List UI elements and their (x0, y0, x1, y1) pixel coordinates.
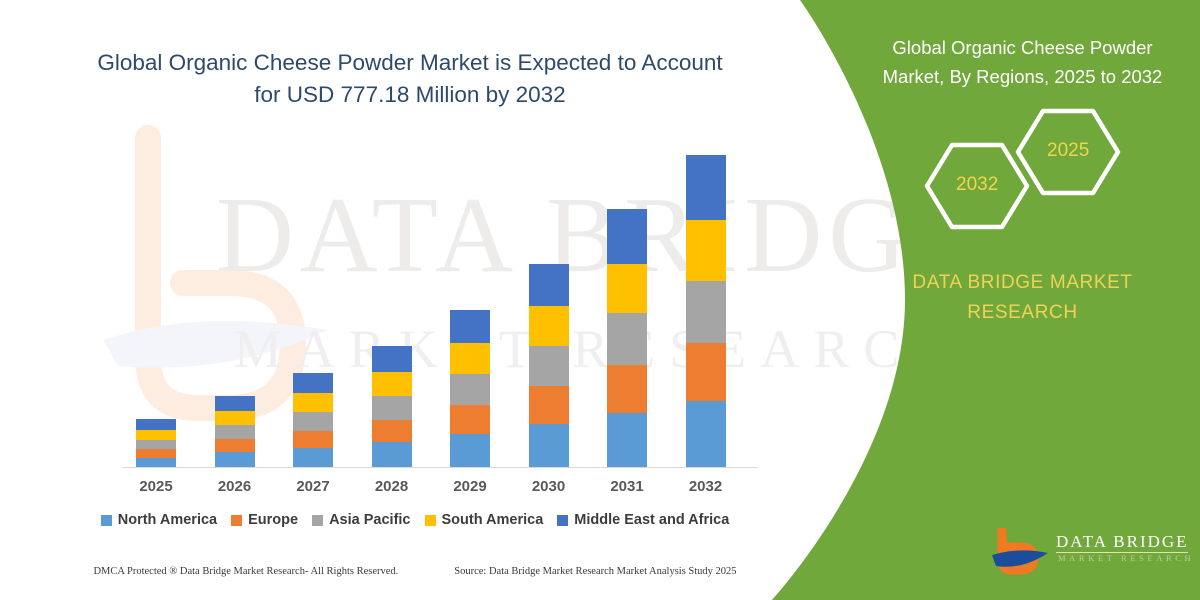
bar-segment-south-america-2025 (136, 430, 176, 440)
bar-segment-middle-east-and-africa-2030 (529, 264, 569, 307)
bar-segment-north-america-2028 (372, 442, 412, 467)
bar-segment-north-america-2026 (215, 452, 255, 467)
legend-item-south-america[interactable]: South America (425, 512, 544, 528)
bar-segment-middle-east-and-africa-2031 (607, 209, 647, 263)
year-hexagons: 2025 2032 (895, 105, 1175, 235)
bar-2031 (607, 209, 647, 467)
legend-label: North America (118, 512, 217, 528)
bar-segment-asia-pacific-2029 (450, 374, 490, 405)
legend-label: Asia Pacific (329, 512, 410, 528)
bar-segment-north-america-2030 (529, 424, 569, 467)
legend-swatch-icon (557, 515, 568, 526)
brand-name: DATA BRIDGE MARKET RESEARCH (850, 268, 1195, 328)
bar-segment-asia-pacific-2027 (293, 412, 333, 431)
bar-2026 (215, 396, 255, 467)
bar-segment-south-america-2032 (686, 220, 726, 281)
x-axis-label-2029: 2029 (430, 478, 510, 495)
bar-segment-asia-pacific-2031 (607, 313, 647, 364)
hexagon-outlines-icon (895, 105, 1175, 235)
logo-tagline: MARKET RESEARCH (1058, 553, 1194, 563)
bar-segment-south-america-2031 (607, 264, 647, 314)
bar-2028 (372, 346, 412, 467)
regions-heading: Global Organic Cheese Powder Market, By … (850, 33, 1195, 91)
legend-item-north-america[interactable]: North America (101, 512, 217, 528)
bar-segment-north-america-2025 (136, 458, 176, 467)
bar-segment-europe-2026 (215, 439, 255, 452)
bar-segment-south-america-2027 (293, 393, 333, 412)
bar-segment-middle-east-and-africa-2028 (372, 346, 412, 372)
bar-segment-europe-2029 (450, 405, 490, 434)
x-axis-label-2030: 2030 (509, 478, 589, 495)
infographic-canvas: DATA BRIDGE MARKET RESEARCH Global Organ… (0, 0, 1200, 600)
brand-name-line-2: RESEARCH (967, 302, 1077, 323)
x-axis-label-2031: 2031 (587, 478, 667, 495)
legend-item-europe[interactable]: Europe (231, 512, 298, 528)
bar-segment-south-america-2030 (529, 306, 569, 346)
x-axis-label-2032: 2032 (666, 478, 746, 495)
hexagon-year-2025-label: 2025 (1047, 140, 1089, 162)
brand-name-line-1: DATA BRIDGE MARKET (912, 272, 1132, 293)
legend-swatch-icon (231, 515, 242, 526)
hexagon-year-2032-label: 2032 (956, 174, 998, 196)
bar-segment-middle-east-and-africa-2026 (215, 396, 255, 412)
legend-swatch-icon (101, 515, 112, 526)
bar-segment-middle-east-and-africa-2029 (450, 310, 490, 343)
x-axis-label-2025: 2025 (116, 478, 196, 495)
bar-segment-middle-east-and-africa-2032 (686, 155, 726, 220)
legend-item-asia-pacific[interactable]: Asia Pacific (312, 512, 410, 528)
bar-segment-asia-pacific-2030 (529, 346, 569, 386)
bar-2030 (529, 264, 569, 467)
regions-heading-line-1: Global Organic Cheese Powder (892, 37, 1152, 58)
bar-segment-europe-2031 (607, 365, 647, 413)
bar-segment-asia-pacific-2025 (136, 440, 176, 449)
bar-segment-south-america-2029 (450, 343, 490, 374)
bar-segment-asia-pacific-2028 (372, 396, 412, 420)
footer-bar: DMCA Protected ® Data Bridge Market Rese… (0, 566, 830, 577)
bar-segment-europe-2025 (136, 449, 176, 458)
bar-segment-north-america-2031 (607, 413, 647, 467)
logo-wordmark: DATA BRIDGE (1056, 532, 1189, 552)
bar-segment-north-america-2029 (450, 434, 490, 467)
bar-segment-europe-2028 (372, 420, 412, 443)
bar-2025 (136, 419, 176, 467)
x-axis-label-2028: 2028 (352, 478, 432, 495)
data-bridge-mark-icon (990, 528, 1054, 578)
bar-segment-europe-2032 (686, 343, 726, 401)
bar-segment-north-america-2027 (293, 448, 333, 467)
bar-segment-middle-east-and-africa-2025 (136, 419, 176, 430)
left-chart-panel: Global Organic Cheese Powder Market is E… (0, 0, 830, 600)
chart-legend: North AmericaEuropeAsia PacificSouth Ame… (0, 512, 830, 528)
legend-swatch-icon (312, 515, 323, 526)
bar-segment-middle-east-and-africa-2027 (293, 373, 333, 393)
footer-source-text: Source: Data Bridge Market Research Mark… (454, 566, 736, 577)
bar-segment-asia-pacific-2032 (686, 281, 726, 343)
legend-item-middle-east-and-africa[interactable]: Middle East and Africa (557, 512, 729, 528)
bar-2027 (293, 373, 333, 467)
bar-2029 (450, 310, 490, 468)
bar-segment-south-america-2028 (372, 372, 412, 396)
x-axis-line (122, 467, 758, 468)
legend-label: Middle East and Africa (574, 512, 729, 528)
data-bridge-logo: DATA BRIDGE MARKET RESEARCH (990, 528, 1195, 580)
bar-segment-north-america-2032 (686, 401, 726, 467)
bar-segment-europe-2030 (529, 386, 569, 424)
x-axis-label-2027: 2027 (273, 478, 353, 495)
legend-swatch-icon (425, 515, 436, 526)
bar-segment-asia-pacific-2026 (215, 425, 255, 439)
stacked-bar-chart: 20252026202720282029203020312032 (0, 0, 830, 600)
regions-heading-line-2: Market, By Regions, 2025 to 2032 (883, 66, 1163, 87)
bar-segment-south-america-2026 (215, 411, 255, 425)
legend-label: Europe (248, 512, 298, 528)
footer-dmca-text: DMCA Protected ® Data Bridge Market Rese… (93, 566, 398, 577)
x-axis-label-2026: 2026 (195, 478, 275, 495)
legend-label: South America (442, 512, 544, 528)
bar-segment-europe-2027 (293, 431, 333, 448)
bar-2032 (686, 155, 726, 467)
green-panel-content: Global Organic Cheese Powder Market, By … (840, 0, 1200, 600)
